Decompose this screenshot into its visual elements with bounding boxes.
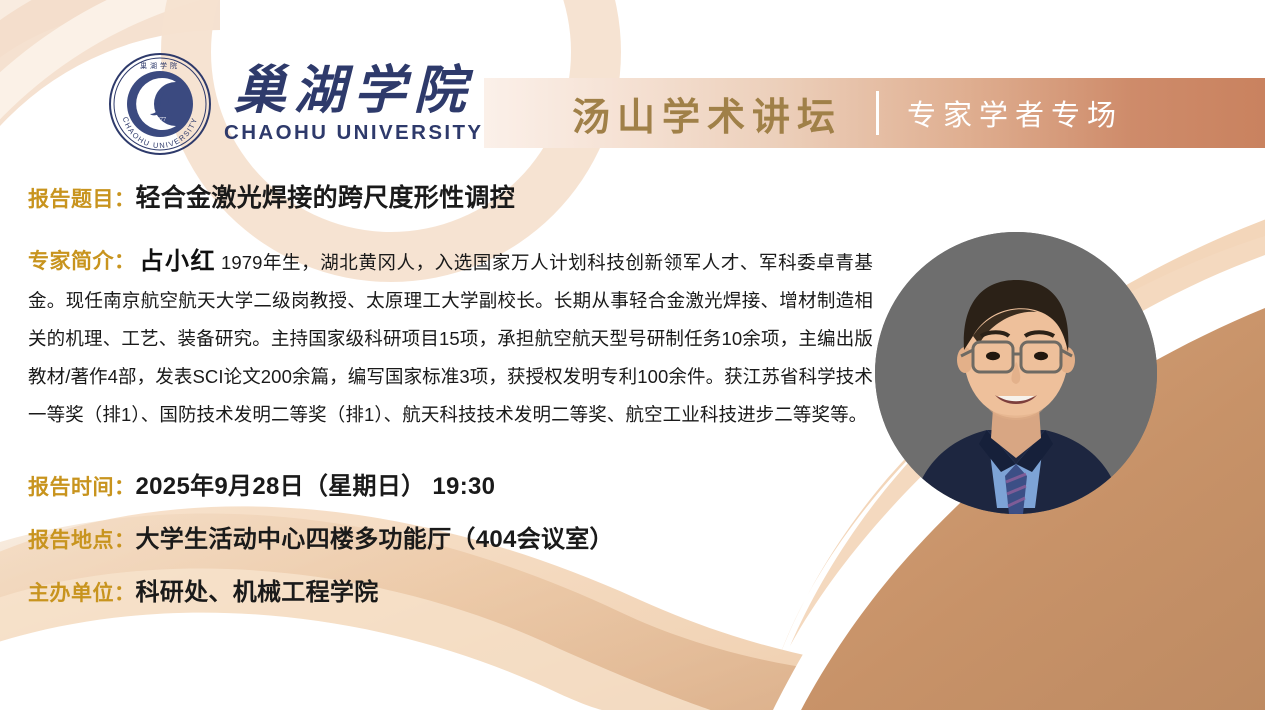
speaker-portrait-image	[875, 232, 1157, 514]
report-time-row: 报告时间： 2025年9月28日（星期日） 19:30	[28, 466, 495, 501]
report-title-label: 报告题目：	[28, 183, 136, 213]
organizer-value: 科研处、机械工程学院	[136, 572, 379, 607]
report-place-label: 报告地点：	[28, 524, 136, 554]
organizer-label: 主办单位：	[28, 577, 136, 607]
report-place-value: 大学生活动中心四楼多功能厅（404会议室）	[136, 519, 614, 554]
report-title-value: 轻合金激光焊接的跨尺度形性调控	[136, 178, 516, 214]
speaker-bio-body: 占小红1979年生，湖北黄冈人，入选国家万人计划科技创新领军人才、军科委卓青基金…	[28, 243, 873, 434]
report-place-row: 报告地点： 大学生活动中心四楼多功能厅（404会议室）	[28, 519, 614, 554]
speaker-name: 占小红	[140, 248, 216, 275]
report-time-value: 2025年9月28日（星期日） 19:30	[136, 466, 496, 501]
speaker-bio-label: 专家简介：	[28, 243, 136, 281]
report-time-label: 报告时间：	[28, 471, 136, 501]
report-title-row: 报告题目： 轻合金激光焊接的跨尺度形性调控	[28, 178, 515, 214]
speaker-bio-row: 专家简介： 占小红1979年生，湖北黄冈人，入选国家万人计划科技创新领军人才、军…	[28, 243, 873, 434]
speaker-portrait	[875, 232, 1157, 514]
speaker-bio-text: 1979年生，湖北黄冈人，入选国家万人计划科技创新领军人才、军科委卓青基金。现任…	[28, 252, 873, 425]
seminar-poster: 1977 巢湖学院 CHAOHU UNIVERSITY 巢湖学院 CHAOHU …	[0, 0, 1265, 710]
organizer-row: 主办单位： 科研处、机械工程学院	[28, 572, 379, 607]
